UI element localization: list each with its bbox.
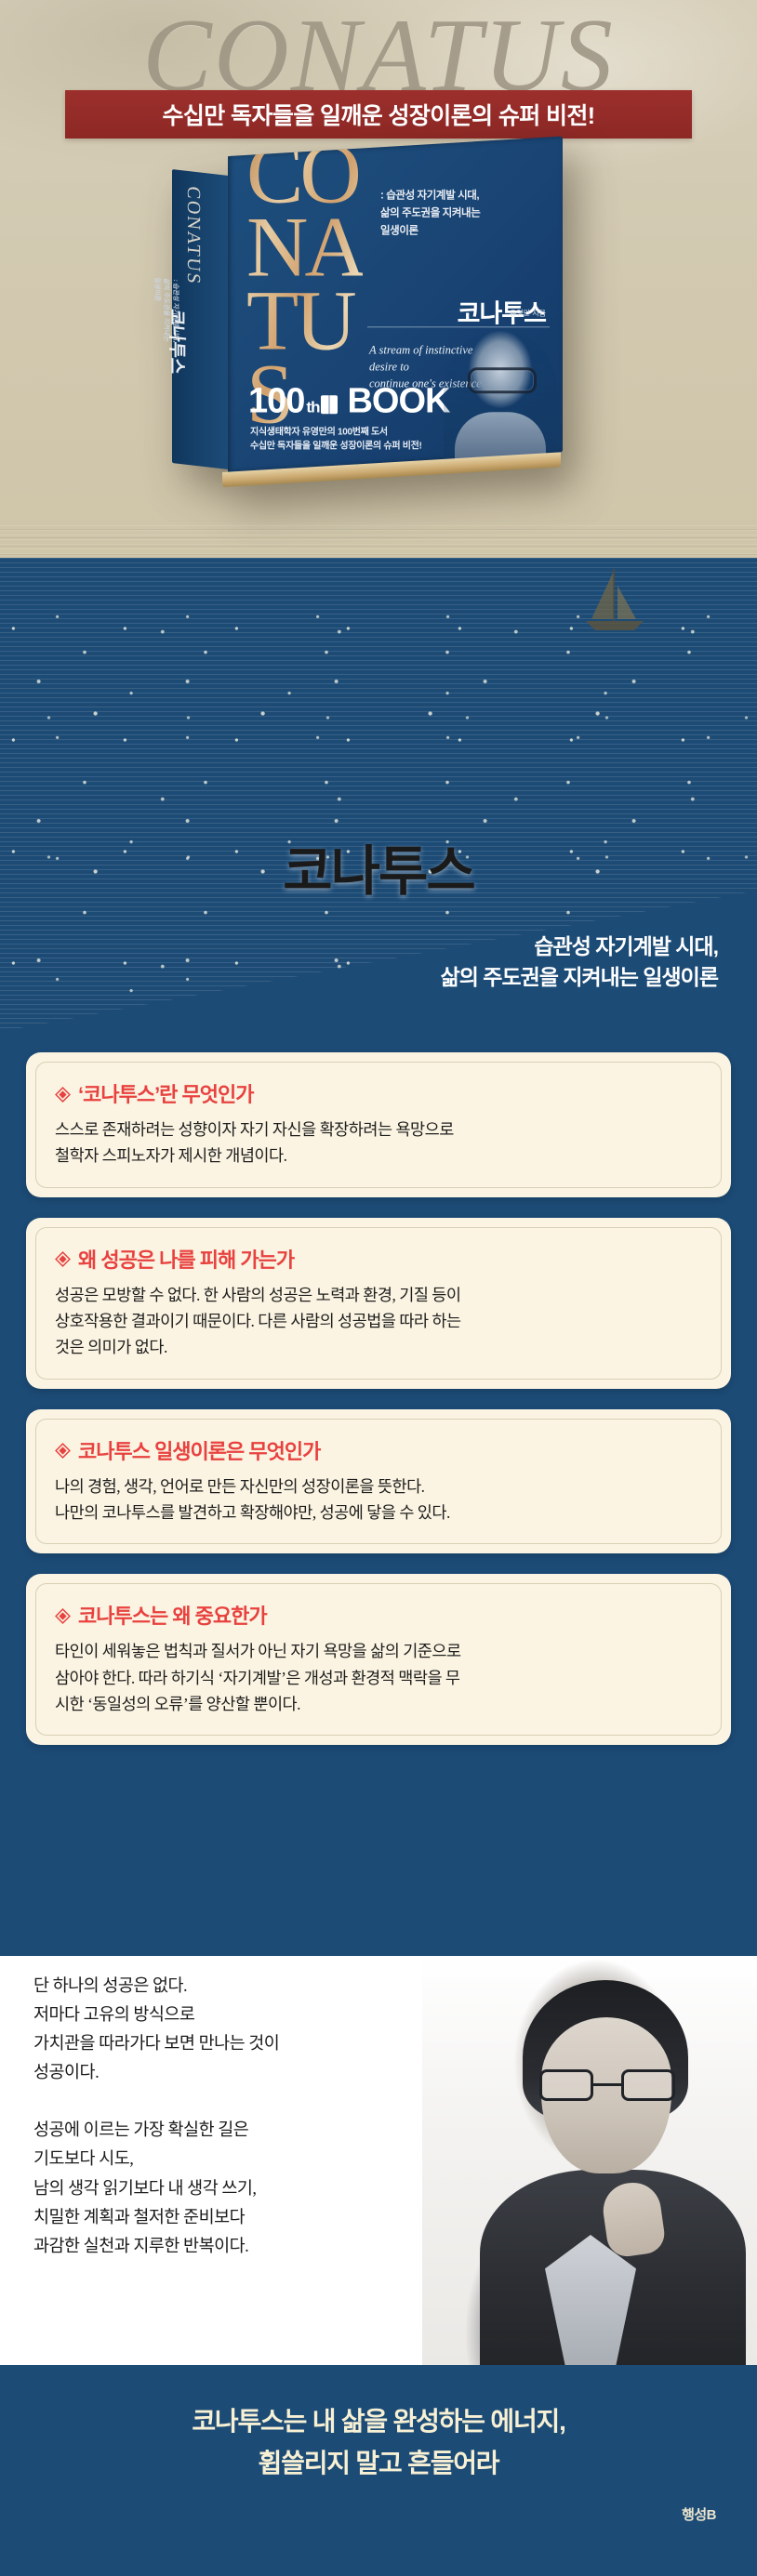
diamond-icon: [55, 1608, 71, 1624]
book-detail-page: CONATUS 수십만 독자들을 일깨운 성장이론의 슈퍼 비전! CONATU…: [0, 0, 757, 2576]
qa-card-body: 성공은 모방할 수 없다. 한 사람의 성공은 노력과 환경, 기질 등이 상호…: [55, 1282, 702, 1361]
sailboat-icon: [582, 569, 647, 638]
qa-card-body: 나의 경험, 생각, 언어로 만든 자신만의 성장이론을 뜻한다. 나만의 코나…: [55, 1473, 702, 1526]
qa-card-list: ‘코나투스’란 무엇인가 스스로 존재하려는 성향이자 자기 자신을 확장하려는…: [0, 1032, 757, 1773]
red-banner-text: 수십만 독자들을 일깨운 성장이론의 슈퍼 비전!: [162, 98, 594, 131]
cover-author-portrait: [444, 330, 557, 460]
qa-card-heading-row: 코나투스는 왜 중요한가: [55, 1600, 702, 1630]
qa-card: 왜 성공은 나를 피해 가는가 성공은 모방할 수 없다. 한 사람의 성공은 …: [26, 1218, 731, 1389]
author-quote-text: 단 하나의 성공은 없다. 저마다 고유의 방식으로 가치관을 따라가다 보면 …: [33, 1973, 433, 2262]
qa-card-heading-row: 왜 성공은 나를 피해 가는가: [55, 1244, 702, 1274]
hero-section: CONATUS 수십만 독자들을 일깨운 성장이론의 슈퍼 비전! CONATU…: [0, 0, 757, 1032]
book-spine: CONATUS : 습관성 자기계발 시대, 삶의 주도권을 지켜내는 일생이론…: [172, 169, 230, 469]
badge-ordinal: th: [306, 398, 319, 416]
qa-card-body: 스스로 존재하려는 성향이자 자기 자신을 확장하려는 욕망으로 철학자 스피노…: [55, 1116, 702, 1169]
qa-card-heading: 왜 성공은 나를 피해 가는가: [78, 1244, 294, 1274]
page-title: 코나투스: [0, 827, 757, 905]
footer-section: 코나투스는 내 삶을 완성하는 에너지, 휩쓸리지 말고 흔들어라 행성B: [0, 2365, 757, 2576]
qa-card-heading: ‘코나투스’란 무엇인가: [78, 1078, 254, 1108]
qa-card-heading-row: 코나투스 일생이론은 무엇인가: [55, 1435, 702, 1465]
book-front-cover: CO NA TU S : 습관성 자기계발 시대, 삶의 주도권을 지켜내는 일…: [228, 137, 563, 472]
qa-card-heading: 코나투스 일생이론은 무엇인가: [78, 1435, 320, 1465]
footer-slogan: 코나투스는 내 삶을 완성하는 에너지, 휩쓸리지 말고 흔들어라: [0, 2400, 757, 2485]
open-book-icon: [321, 395, 338, 414]
spine-korean-title: 코나투스: [166, 308, 191, 450]
book-cover-3d: CONATUS : 습관성 자기계발 시대, 삶의 주도권을 지켜내는 일생이론…: [172, 156, 563, 482]
badge-number: 100: [248, 381, 304, 421]
diamond-icon: [55, 1251, 71, 1267]
hundredth-book-badge: 100 th BOOK: [248, 381, 449, 421]
qa-card-heading-row: ‘코나투스’란 무엇인가: [55, 1078, 702, 1108]
author-photo: [422, 1956, 757, 2365]
author-quote-section: 단 하나의 성공은 없다. 저마다 고유의 방식으로 가치관을 따라가다 보면 …: [0, 1956, 757, 2365]
cover-author-name: 유영만 지음: [510, 308, 546, 318]
qa-card: 코나투스는 왜 중요한가 타인이 세워놓은 법칙과 질서가 아닌 자기 욕망을 …: [26, 1574, 731, 1745]
red-banner: 수십만 독자들을 일깨운 성장이론의 슈퍼 비전!: [65, 90, 692, 139]
publisher-logo: 행성B: [682, 2504, 716, 2524]
qa-card: 코나투스 일생이론은 무엇인가 나의 경험, 생각, 언어로 만든 자신만의 성…: [26, 1409, 731, 1554]
qa-card: ‘코나투스’란 무엇인가 스스로 존재하려는 성향이자 자기 자신을 확장하려는…: [26, 1052, 731, 1197]
diamond-icon: [55, 1087, 71, 1103]
qa-card-body: 타인이 세워놓은 법칙과 질서가 아닌 자기 욕망을 삶의 기준으로 삼아야 한…: [55, 1638, 702, 1717]
cover-tagline: : 습관성 자기계발 시대, 삶의 주도권을 지켜내는 일생이론: [380, 187, 548, 240]
badge-book-label: BOOK: [347, 381, 449, 421]
page-subtitle: 습관성 자기계발 시대, 삶의 주도권을 지켜내는 일생이론: [197, 931, 718, 992]
glasses-icon: [539, 2069, 675, 2101]
qa-card-heading: 코나투스는 왜 중요한가: [78, 1600, 267, 1630]
cover-divider: [367, 326, 550, 327]
diamond-icon: [55, 1443, 71, 1459]
